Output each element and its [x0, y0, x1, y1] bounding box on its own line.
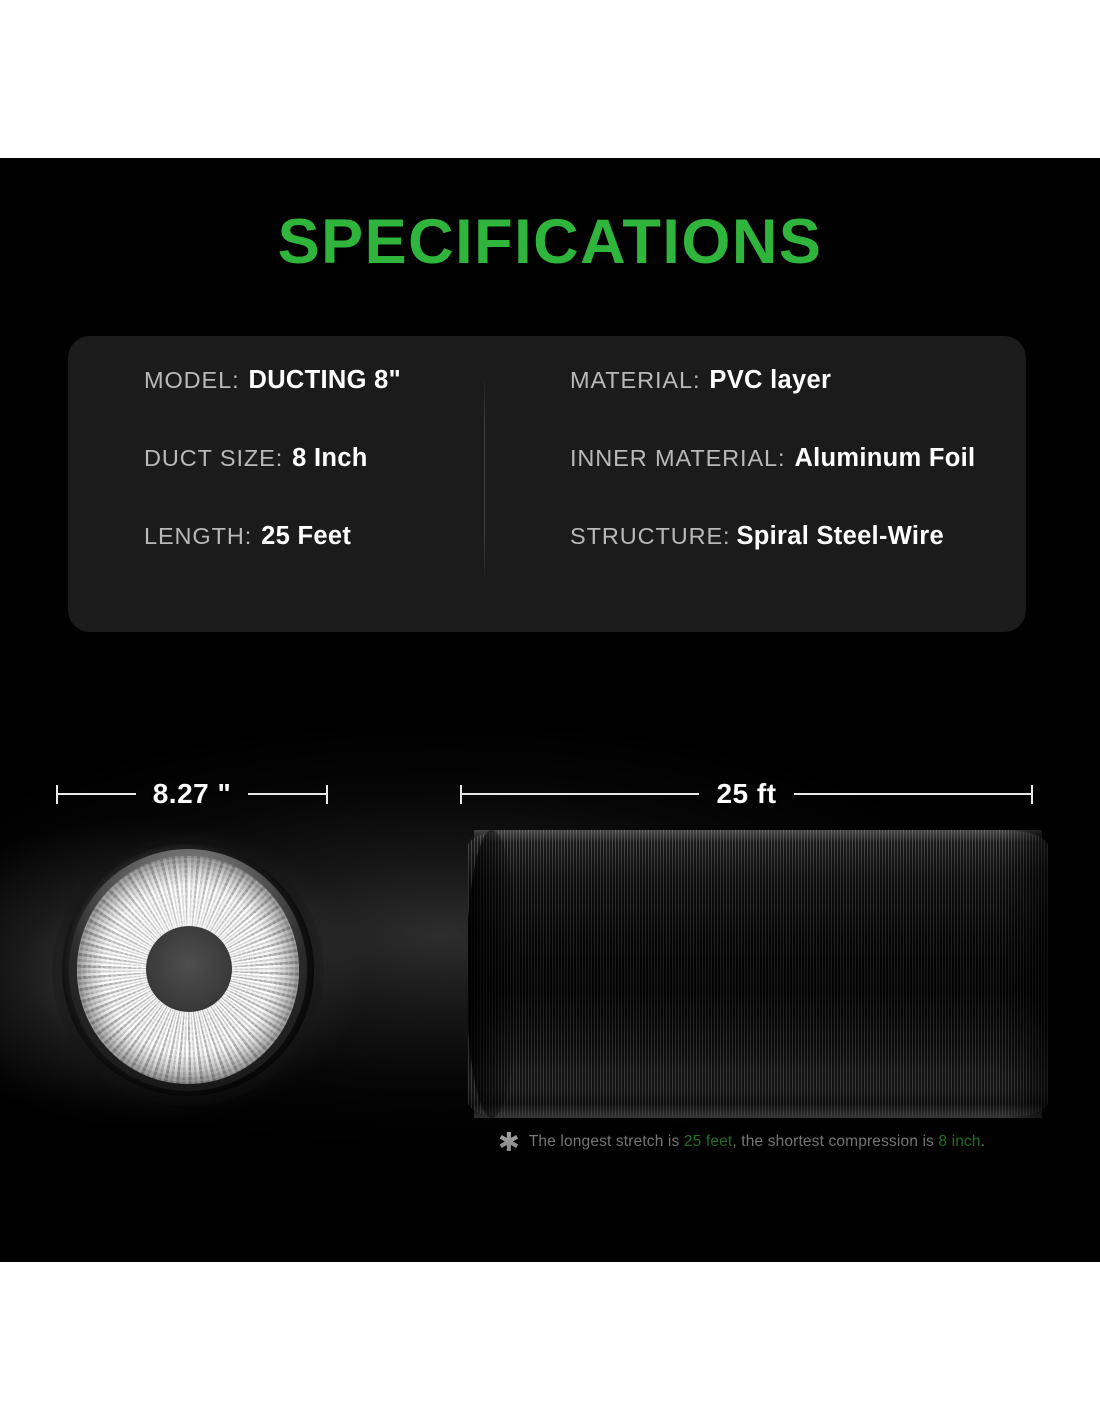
spec-column-right: MATERIAL: PVC layer INNER MATERIAL: Alum…: [570, 366, 1010, 600]
duct-cylinder: [468, 830, 1048, 1118]
spec-row-duct-size: DUCT SIZE: 8 Inch: [144, 444, 474, 522]
duct-left-end: [468, 830, 518, 1118]
duct-bottom-highlight: [474, 1104, 1042, 1118]
dimension-line-right: [248, 793, 326, 795]
spec-label-length: LENGTH:: [144, 523, 252, 550]
duct-right-end: [1004, 830, 1048, 1118]
column-divider: [484, 380, 485, 578]
footnote-part-1: The longest stretch is: [529, 1133, 684, 1150]
dimension-line-left: [462, 793, 699, 795]
dimension-line-right: [794, 793, 1031, 795]
spec-row-length: LENGTH: 25 Feet: [144, 522, 474, 600]
footnote-part-3: .: [981, 1133, 985, 1150]
product-image-duct-body: [468, 830, 1048, 1118]
product-spec-page: SPECIFICATIONS MODEL: DUCTING 8" DUCT SI…: [0, 0, 1100, 1422]
spec-value-length: 25 Feet: [261, 522, 351, 551]
dimension-callout-diameter: 8.27 ": [56, 779, 328, 809]
spec-value-structure: Spiral Steel-Wire: [736, 522, 944, 551]
footnote-part-2: , the shortest compression is: [732, 1133, 938, 1150]
footnote: ✱ The longest stretch is 25 feet, the sh…: [498, 1129, 1038, 1155]
footnote-highlight-stretch: 25 feet: [684, 1133, 732, 1150]
dark-stage: SPECIFICATIONS MODEL: DUCTING 8" DUCT SI…: [0, 158, 1100, 1262]
spec-value-material: PVC layer: [709, 366, 831, 395]
spec-row-material: MATERIAL: PVC layer: [570, 366, 1010, 444]
dimension-label-length: 25 ft: [699, 778, 793, 810]
dimension-label-diameter: 8.27 ": [136, 778, 249, 810]
product-image-cross-section: [62, 844, 314, 1096]
page-title: SPECIFICATIONS: [0, 206, 1100, 278]
spec-label-model: MODEL:: [144, 367, 240, 394]
asterisk-icon: ✱: [498, 1129, 520, 1155]
dimension-endcap-right-icon: [1031, 785, 1033, 804]
spec-label-inner-material: INNER MATERIAL:: [570, 445, 785, 472]
spec-row-structure: STRUCTURE: Spiral Steel-Wire: [570, 522, 1010, 600]
dimension-line-left: [58, 793, 136, 795]
spec-label-structure: STRUCTURE:: [570, 523, 730, 550]
spec-row-model: MODEL: DUCTING 8": [144, 366, 474, 444]
dimension-endcap-right-icon: [326, 785, 328, 804]
specifications-panel: MODEL: DUCTING 8" DUCT SIZE: 8 Inch LENG…: [68, 336, 1026, 632]
dimension-callout-length: 25 ft: [460, 779, 1033, 809]
spec-column-left: MODEL: DUCTING 8" DUCT SIZE: 8 Inch LENG…: [144, 366, 474, 600]
spec-row-inner-material: INNER MATERIAL: Aluminum Foil: [570, 444, 1010, 522]
footnote-text: The longest stretch is 25 feet, the shor…: [529, 1133, 985, 1151]
duct-top-highlight: [474, 830, 1042, 842]
spec-value-duct-size: 8 Inch: [292, 444, 368, 473]
cross-section-bore-hole: [146, 926, 232, 1012]
spec-value-model: DUCTING 8": [249, 366, 402, 395]
spec-label-duct-size: DUCT SIZE:: [144, 445, 283, 472]
spec-value-inner-material: Aluminum Foil: [794, 444, 975, 473]
spec-label-material: MATERIAL:: [570, 367, 700, 394]
footnote-highlight-compression: 8 inch: [938, 1133, 980, 1150]
